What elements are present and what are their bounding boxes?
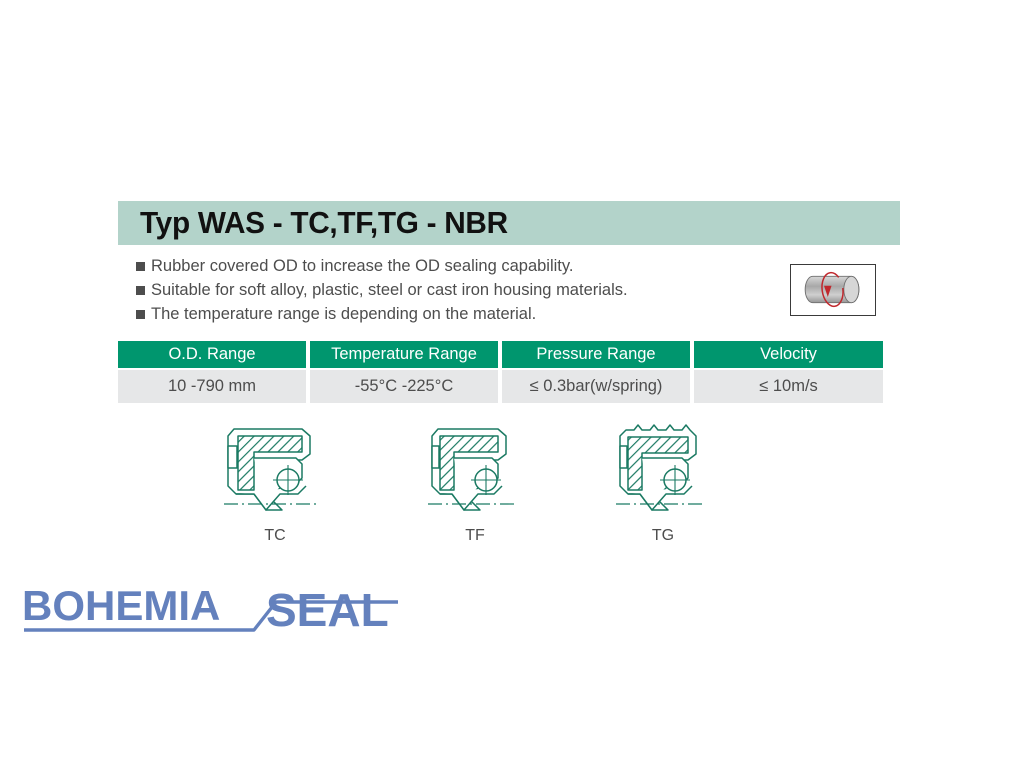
square-bullet-icon xyxy=(136,262,145,271)
company-logo: BOHEMIA SEAL xyxy=(18,578,418,640)
cell-temperature-range: -55°C -225°C xyxy=(310,370,498,403)
table-header-row: O.D. Range Temperature Range Pressure Ra… xyxy=(118,341,875,368)
column-header-temperature-range: Temperature Range xyxy=(310,341,498,368)
seal-figure-tg: TG xyxy=(598,420,728,552)
logo-text-seal: SEAL xyxy=(266,584,389,636)
seal-cross-section-tc-icon xyxy=(210,420,340,525)
seal-diagram-group: TC TF xyxy=(118,420,875,552)
feature-text: Suitable for soft alloy, plastic, steel … xyxy=(151,280,628,301)
feature-text: The temperature range is depending on th… xyxy=(151,304,536,325)
seal-figure-tc: TC xyxy=(210,420,340,552)
seal-cross-section-tf-icon xyxy=(410,420,540,525)
list-item: Rubber covered OD to increase the OD sea… xyxy=(136,256,756,277)
square-bullet-icon xyxy=(136,286,145,295)
square-bullet-icon xyxy=(136,310,145,319)
rotating-shaft-icon xyxy=(790,264,876,316)
seal-label-tf: TF xyxy=(410,527,540,545)
cell-velocity: ≤ 10m/s xyxy=(694,370,883,403)
seal-cross-section-tg-icon xyxy=(598,420,728,525)
list-item: The temperature range is depending on th… xyxy=(136,304,756,325)
feature-list: Rubber covered OD to increase the OD sea… xyxy=(136,256,756,328)
seal-label-tg: TG xyxy=(598,527,728,545)
seal-figure-tf: TF xyxy=(410,420,540,552)
cell-od-range: 10 -790 mm xyxy=(118,370,306,403)
column-header-velocity: Velocity xyxy=(694,341,883,368)
logo-text-bohemia: BOHEMIA xyxy=(22,582,220,629)
seal-label-tc: TC xyxy=(210,527,340,545)
page-title: Typ WAS - TC,TF,TG - NBR xyxy=(140,205,508,241)
list-item: Suitable for soft alloy, plastic, steel … xyxy=(136,280,756,301)
specification-table: O.D. Range Temperature Range Pressure Ra… xyxy=(118,341,875,403)
table-row: 10 -790 mm -55°C -225°C ≤ 0.3bar(w/sprin… xyxy=(118,370,875,403)
column-header-od-range: O.D. Range xyxy=(118,341,306,368)
column-header-pressure-range: Pressure Range xyxy=(502,341,690,368)
feature-text: Rubber covered OD to increase the OD sea… xyxy=(151,256,574,277)
rotating-shaft-graphic xyxy=(791,265,874,314)
bohemia-seal-logo-icon: BOHEMIA SEAL xyxy=(18,578,418,640)
cell-pressure-range: ≤ 0.3bar(w/spring) xyxy=(502,370,690,403)
title-banner: Typ WAS - TC,TF,TG - NBR xyxy=(118,201,900,245)
